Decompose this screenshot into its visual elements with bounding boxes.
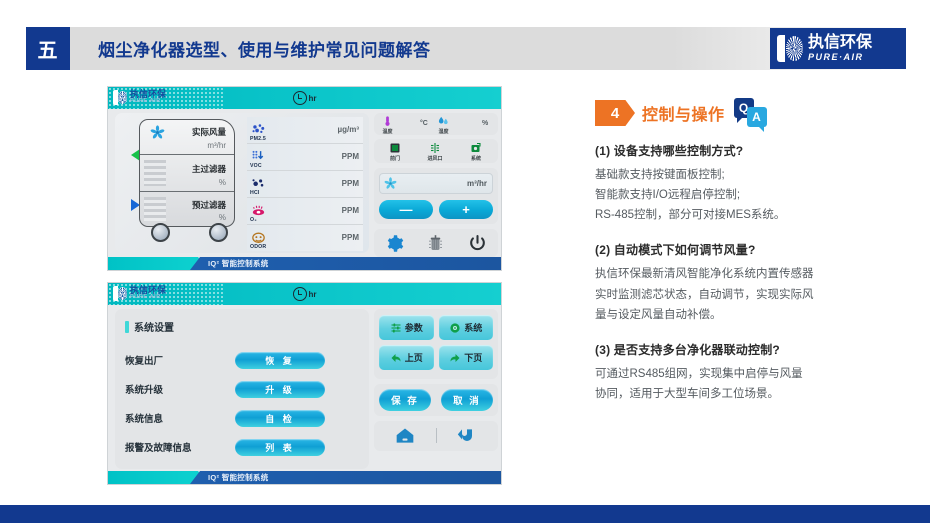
fan-icon [384,177,397,190]
settings-control-column: 参数 系统 上页 [374,309,498,471]
sensor-name: PM2.5 [250,136,266,142]
faq-answer-line: 量与设定风量自动补偿。 [595,305,915,325]
hmi-statusbar: IQ² 智能控制系统 [190,471,501,484]
sensor-name: O₃ [250,217,257,223]
sensor-unit: µg/m³ [338,125,360,134]
arrow-right-icon [449,352,461,364]
settings-title: 系统设置 [134,319,174,334]
page-title: 烟尘净化器选型、使用与维护常见问题解答 [98,27,431,70]
sensor-name: HCI [250,190,260,196]
settings-header: 系统设置 [125,319,174,334]
faq-block-1: (1) 设备支持哪些控制方式? 基础款支持按键面板控制; 智能款支持I/O远程启… [595,142,915,225]
main-filter-media [144,160,166,186]
faq-answer-line: 执信环保最新清风智能净化系统内置传感器 [595,264,915,284]
sensor-name: ODOR [250,244,266,250]
faq-content: 4 控制与操作 Q A (1) 设备支持哪些控制方式? 基础款支持按键面板控制;… [595,98,915,420]
caster-wheel-left [151,223,170,242]
next-page-label: 下页 [464,351,482,364]
humidity-icon [438,115,449,127]
device-row-label: 预过滤器 [192,199,226,211]
thermometer-icon [382,115,393,127]
settings-header-accent [125,321,129,333]
sensor-row-pm25[interactable]: PM2.5 µg/m³ [247,117,363,144]
front-door-icon [389,142,401,154]
filter-cartridge-icon[interactable] [426,234,445,253]
status-front-door[interactable]: 前门 [378,142,412,162]
device-row-pre-filter[interactable]: 预过滤器 % [140,192,234,226]
faq-answer-line: RS-485控制，部分可对接MES系统。 [595,205,915,225]
page-header: 五 烟尘净化器选型、使用与维护常见问题解答 执信环保 PURE·AIR [26,27,906,70]
save-button[interactable]: 保 存 [379,389,431,411]
hmi-panel-monitor[interactable]: 执信环保 PURE AIR hr [107,86,502,271]
section-badge: 4 [595,100,635,126]
brand-mark-icon [776,34,804,63]
env-humidity-unit: % [482,120,488,127]
brand-name-cn: 执信环保 [808,35,872,51]
fan-icon [150,125,165,140]
clock-unit: hr [309,290,317,299]
sensor-name: VOC [250,163,262,169]
caster-wheel-right [209,223,228,242]
faq-answer-line: 实时监测滤芯状态，自动调节，实现实际风 [595,285,915,305]
settings-row-label: 系统升级 [125,382,235,396]
runtime-clock: hr [293,91,317,105]
status-system[interactable]: 系统 [459,142,493,162]
settings-row-factory-reset: 恢复出厂 恢 复 [125,350,359,370]
hmi-panel-settings[interactable]: 执信环保 PURE AIR hr 系统设置 恢复出厂 恢 复 系统升级 升 级 … [107,282,502,485]
settings-row-label: 报警及故障信息 [125,440,235,454]
section-heading: 4 控制与操作 Q A [595,98,915,128]
qa-a-letter: A [747,107,767,127]
clock-icon [293,91,307,105]
action-bar-card [374,229,498,257]
settings-row-alarm-info: 报警及故障信息 列 表 [125,437,359,457]
clock-icon [293,287,307,301]
faq-answer-line: 协同，适用于大型车间多工位场景。 [595,384,915,404]
faq-question: (3) 是否支持多台净化器联动控制? [595,341,915,358]
system-label: 系统 [464,321,482,334]
monitor-left-area: 实际风量 m³/hr 主过滤器 % 预过滤器 % [115,113,369,253]
status-nav-card: 前门 进风口 系统 [374,139,498,163]
faq-answer: 基础款支持按键面板控制; 智能款支持I/O远程启停控制; RS-485控制，部分… [595,165,915,225]
device-row-label: 实际风量 [192,126,226,138]
hmi-logo: 执信环保 PURE AIR [113,90,166,105]
faq-answer: 可通过RS485组网，实现集中启停与风量 协同，适用于大型车间多工位场景。 [595,364,915,404]
env-temperature-label: 温度 [382,128,392,135]
faq-answer: 执信环保最新清风智能净化系统内置传感器 实时监测滤芯状态，自动调节，实现实际风 … [595,264,915,324]
settings-row-system-info: 系统信息 自 检 [125,408,359,428]
device-row-unit: m³/hr [207,141,226,150]
arrow-left-icon [390,352,402,364]
settings-menu-card: 参数 系统 上页 [374,309,498,379]
hmi-logo-mark-icon [113,90,127,105]
save-cancel-card: 保 存 取 消 [374,384,498,416]
sensor-row-hci[interactable]: HCI PPM [247,171,363,198]
settings-row-upgrade: 系统升级 升 级 [125,379,359,399]
prev-page-label: 上页 [405,351,423,364]
sensor-unit: PPM [342,233,359,242]
device-row-main-filter[interactable]: 主过滤器 % [140,155,234,191]
airflow-decrease-button[interactable]: — [379,200,433,219]
cancel-button[interactable]: 取 消 [441,389,493,411]
sensor-row-odor[interactable]: ODOR PPM [247,225,363,251]
system-gear-icon [449,322,461,334]
faq-answer-line: 可通过RS485组网，实现集中启停与风量 [595,364,915,384]
sensor-unit: PPM [342,152,359,161]
status-system-label: 系统 [471,155,481,162]
hmi-logo: 执信环保 PURE AIR [113,286,166,301]
sensor-row-o3[interactable]: O₃ PPM [247,198,363,225]
section-number: 五 [26,27,70,70]
airflow-control-card: m³/hr — + [374,168,498,224]
hmi-logo-mark-icon [113,286,127,301]
hmi-status-text: IQ² 智能控制系统 [208,472,269,483]
hmi-status-text: IQ² 智能控制系统 [208,258,269,269]
brand-logo: 执信环保 PURE·AIR [770,28,906,69]
factory-reset-button[interactable]: 恢 复 [235,352,325,369]
device-row-label: 主过滤器 [192,163,226,175]
device-row-unit: % [219,213,226,222]
faq-question: (2) 自动模式下如何调节风量? [595,241,915,258]
section-title: 控制与操作 [642,101,725,125]
hmi-logo-en: PURE AIR [130,295,166,301]
system-icon [470,142,482,154]
device-body: 实际风量 m³/hr 主过滤器 % 预过滤器 % [139,119,235,227]
env-humidity-label: 湿度 [438,128,448,135]
airflow-display[interactable]: m³/hr [379,173,493,194]
home-icon[interactable] [394,426,416,446]
params-button[interactable]: 参数 [379,315,434,340]
home-back-card [374,421,498,451]
statusbar-accent [108,471,206,484]
system-button[interactable]: 系统 [439,315,494,340]
status-front-door-label: 前门 [390,155,400,162]
faq-question: (1) 设备支持哪些控制方式? [595,142,915,159]
device-row-airflow[interactable]: 实际风量 m³/hr [140,120,234,154]
runtime-clock: hr [293,287,317,301]
status-air-inlet-label: 进风口 [427,155,442,162]
env-temperature-unit: °C [420,120,428,127]
alarm-list-button[interactable]: 列 表 [235,439,325,456]
air-inlet-icon [429,142,441,154]
pre-filter-media [144,197,166,221]
page-footer [0,505,930,523]
faq-answer-line: 基础款支持按键面板控制; [595,165,915,185]
gear-icon[interactable] [385,234,404,253]
self-check-button[interactable]: 自 检 [235,410,325,427]
airflow-unit: m³/hr [467,179,487,188]
hmi-statusbar: IQ² 智能控制系统 [190,257,501,270]
sliders-icon [390,322,402,334]
faq-answer-line: 智能款支持I/O远程启停控制; [595,185,915,205]
back-arrow-icon[interactable] [456,426,478,446]
env-temperature[interactable]: 温度 [382,115,393,135]
device-row-unit: % [219,178,226,187]
qa-bubbles-icon: Q A [734,98,768,128]
statusbar-accent [108,257,206,270]
hmi-titlebar: 执信环保 PURE AIR hr [108,87,501,109]
settings-row-label: 系统信息 [125,411,235,425]
device-schematic: 实际风量 m³/hr 主过滤器 % 预过滤器 % [133,119,241,241]
faq-block-3: (3) 是否支持多台净化器联动控制? 可通过RS485组网，实现集中启停与风量 … [595,341,915,404]
power-icon[interactable] [468,234,487,253]
env-readout-card: 温度 °C 湿度 % [374,113,498,135]
sensor-unit: PPM [342,206,359,215]
settings-row-label: 恢复出厂 [125,353,235,367]
airflow-increase-button[interactable]: + [439,200,493,219]
env-humidity[interactable]: 湿度 [438,115,449,135]
status-air-inlet[interactable]: 进风口 [418,142,452,162]
sensor-row-voc[interactable]: VOC PPM [247,144,363,171]
prev-page-button[interactable]: 上页 [379,345,434,370]
faq-block-2: (2) 自动模式下如何调节风量? 执信环保最新清风智能净化系统内置传感器 实时监… [595,241,915,324]
params-label: 参数 [405,321,423,334]
hmi-titlebar: 执信环保 PURE AIR hr [108,283,501,305]
upgrade-button[interactable]: 升 级 [235,381,325,398]
sensor-readout-list: PM2.5 µg/m³ VOC PPM HCI PPM [247,117,363,251]
brand-name-en: PURE·AIR [808,53,872,62]
monitor-control-column: 温度 °C 湿度 % 前门 [374,113,498,259]
hmi-logo-en: PURE AIR [130,99,166,105]
settings-list-area: 系统设置 恢复出厂 恢 复 系统升级 升 级 系统信息 自 检 报警及故障信息 … [115,309,369,469]
sensor-unit: PPM [342,179,359,188]
clock-unit: hr [309,94,317,103]
next-page-button[interactable]: 下页 [439,345,494,370]
button-divider [436,428,437,443]
